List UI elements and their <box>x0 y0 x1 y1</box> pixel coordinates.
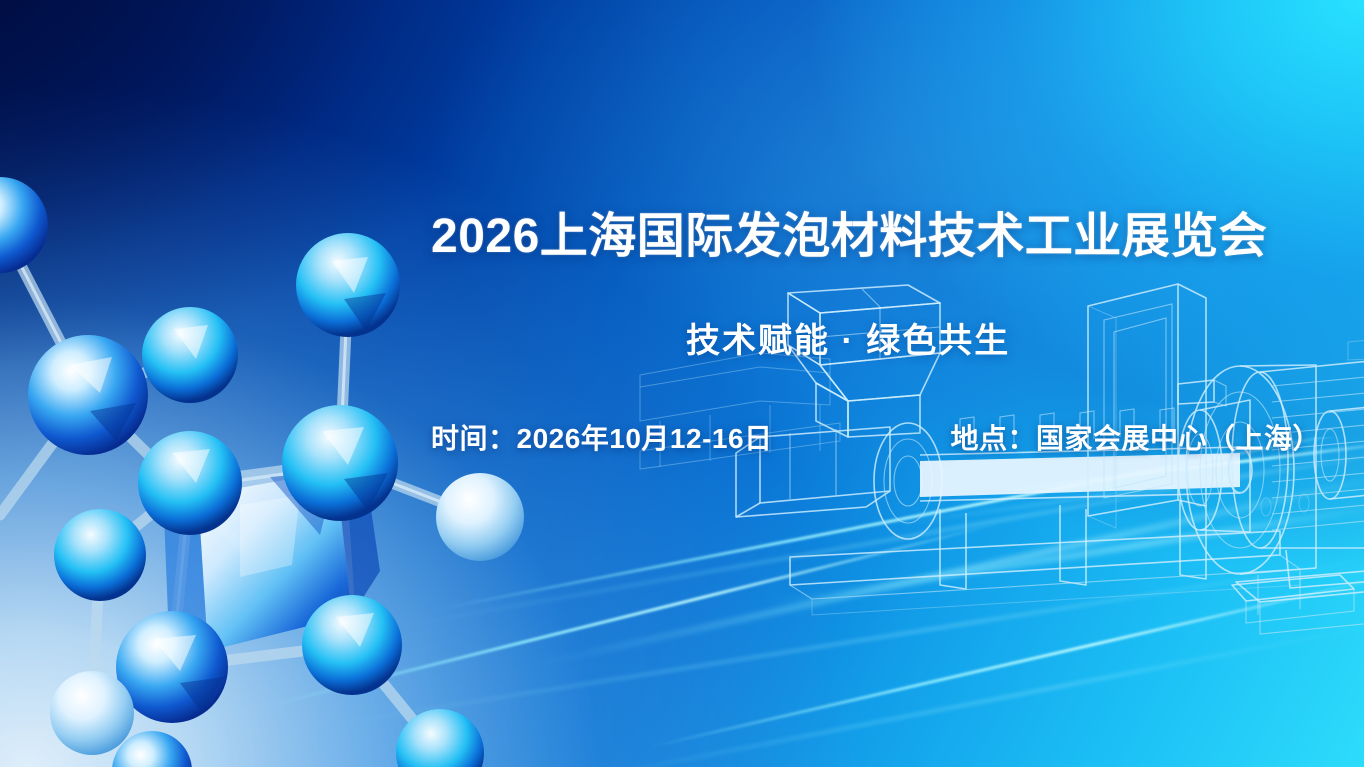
exhibition-poster: 2026上海国际发泡材料技术工业展览会 技术赋能 · 绿色共生 时间：2026年… <box>0 0 1364 767</box>
event-date: 时间：2026年10月12-16日 <box>431 417 773 457</box>
event-venue: 地点：国家会展中心（上海） <box>950 417 1321 457</box>
event-meta: 时间：2026年10月12-16日 地点：国家会展中心（上海） <box>431 417 1321 457</box>
page-title: 2026上海国际发泡材料技术工业展览会 <box>431 196 1267 266</box>
text-layer: 2026上海国际发泡材料技术工业展览会 技术赋能 · 绿色共生 时间：2026年… <box>0 0 1364 767</box>
poster-subtitle: 技术赋能 · 绿色共生 <box>686 313 1010 362</box>
